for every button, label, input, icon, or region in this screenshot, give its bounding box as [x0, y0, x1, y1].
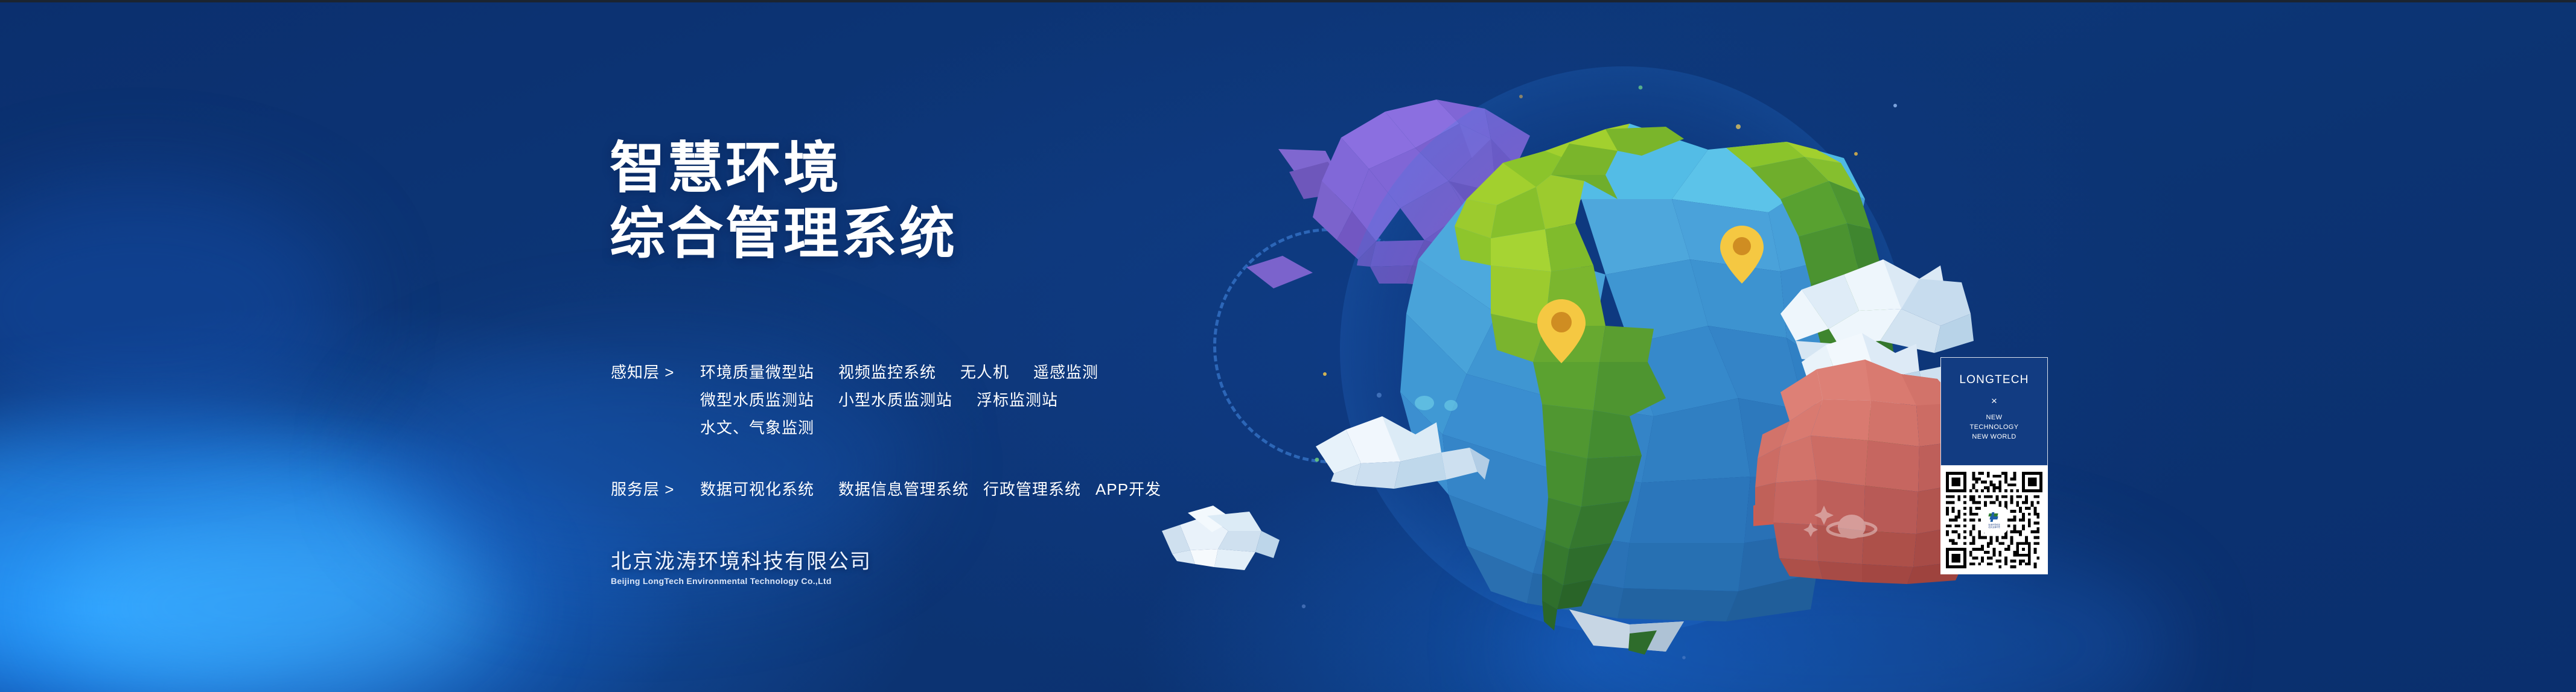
feature-row-service: 服务层 > 数据可视化系统 数据信息管理系统 行政管理系统 APP开发 — [611, 475, 1176, 503]
qr-card[interactable]: LONGTECH × NEW TECHNOLOGY NEW WORLD — [1940, 357, 2048, 574]
company-name-cn: 北京泷涛环境科技有限公司 — [611, 550, 872, 574]
feature-item[interactable]: 小型水质监测站 — [838, 386, 952, 414]
cross-icon: × — [1991, 395, 1997, 407]
feature-label-service[interactable]: 服务层 > — [611, 475, 700, 503]
feature-item[interactable]: 环境质量微型站 — [700, 358, 814, 386]
feature-item[interactable]: 行政管理系统 — [983, 475, 1081, 503]
feature-item[interactable]: 水文、气象监测 — [700, 414, 814, 442]
feature-item[interactable]: 视频监控系统 — [838, 358, 936, 386]
red-planet — [1753, 360, 1969, 584]
feature-item[interactable]: 无人机 — [960, 358, 1009, 386]
feature-row-perception: 感知层 > 环境质量微型站 视频监控系统 无人机 遥感监测 微型水质监测站 小型… — [611, 358, 1176, 442]
feature-list: 感知层 > 环境质量微型站 视频监控系统 无人机 遥感监测 微型水质监测站 小型… — [611, 358, 1176, 514]
brand-name: LONGTECH — [1959, 373, 2029, 387]
feature-line: 微型水质监测站 小型水质监测站 浮标监测站 — [700, 386, 1123, 414]
longtech-logo-icon — [1988, 512, 2001, 523]
cloud-bottom — [1162, 506, 1280, 570]
space-illustration — [0, 0, 2576, 692]
company-name-en: Beijing LongTech Environmental Technolog… — [611, 576, 872, 586]
feature-item[interactable]: 遥感监测 — [1033, 358, 1098, 386]
feature-item[interactable]: APP开发 — [1095, 475, 1161, 503]
feature-item[interactable]: 数据信息管理系统 — [838, 475, 969, 503]
feature-label-perception[interactable]: 感知层 > — [611, 358, 700, 386]
brand-tagline: NEW TECHNOLOGY NEW WORLD — [1969, 413, 2018, 442]
feature-line: 水文、气象监测 — [700, 414, 1123, 442]
feature-item[interactable]: 浮标监测站 — [977, 386, 1058, 414]
banner-root: 智慧环境 综合管理系统 感知层 > 环境质量微型站 视频监控系统 无人机 遥感监… — [0, 0, 2576, 692]
feature-line: 环境质量微型站 视频监控系统 无人机 遥感监测 — [700, 358, 1123, 386]
qr-card-header: LONGTECH × NEW TECHNOLOGY NEW WORLD — [1940, 357, 2048, 466]
qr-logo-caption: 泷涛环境科技 北京泷涛环境 — [1988, 524, 2000, 529]
feature-item[interactable]: 数据可视化系统 — [700, 475, 814, 503]
qr-center-logo: 泷涛环境科技 北京泷涛环境 — [1982, 508, 2006, 532]
page-title: 智慧环境 综合管理系统 — [610, 136, 957, 267]
feature-line: 数据可视化系统 数据信息管理系统 行政管理系统 APP开发 — [700, 475, 1176, 503]
qr-code[interactable]: 泷涛环境科技 北京泷涛环境 — [1940, 466, 2048, 574]
company-block: 北京泷涛环境科技有限公司 Beijing LongTech Environmen… — [611, 550, 872, 586]
feature-item[interactable]: 微型水质监测站 — [700, 386, 814, 414]
